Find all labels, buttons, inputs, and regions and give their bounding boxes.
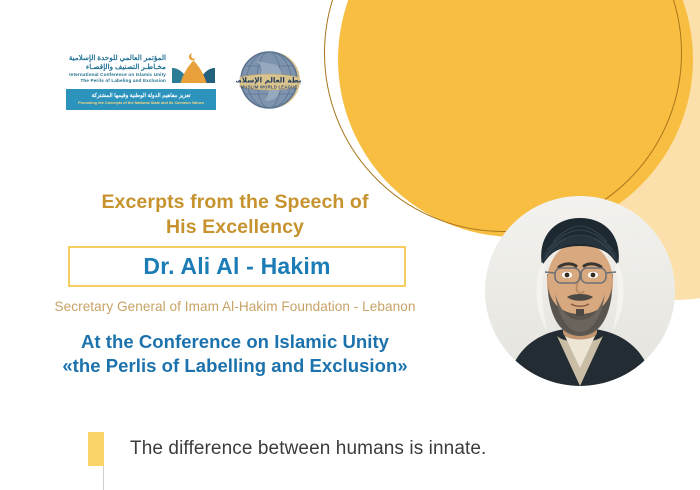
portrait-of-dr-ali-al-hakim	[485, 196, 675, 386]
conference-banner-arabic: تعزيز مفاهيم الدولة الوطنية وقيمها المشت…	[70, 93, 212, 100]
globe-emblem-icon: رابطة العالم الإسلامي MUSLIM WORLD LEAGU…	[236, 47, 302, 113]
mwl-arabic-name: رابطة العالم الإسلامي	[236, 75, 302, 84]
conference-line2: «the Perlis of Labelling and Exclusion»	[0, 354, 470, 378]
conference-title: At the Conference on Islamic Unity «the …	[0, 330, 470, 379]
page-title: Excerpts from the Speech of His Excellen…	[0, 190, 470, 240]
speaker-role: Secretary General of Imam Al-Hakim Found…	[0, 299, 470, 314]
conference-logo-text: المؤتمر العالمي للوحدة الإسلامية مخـاطـر…	[66, 54, 166, 84]
mwl-english-name: MUSLIM WORLD LEAGUE	[241, 85, 298, 90]
conference-english-line2: The Perils of Labeling and Exclusion	[66, 78, 166, 83]
headline-line2: His Excellency	[0, 215, 470, 240]
quote-text: The difference between humans is innate.	[130, 438, 486, 460]
conference-english-line1: International Conference on Islamic Unit…	[66, 72, 166, 77]
conference-line1: At the Conference on Islamic Unity	[0, 330, 470, 354]
quote-block: The difference between humans is innate.	[88, 432, 486, 466]
mosque-dome-crescent-icon	[172, 50, 216, 84]
speaker-name-box: Dr. Ali Al - Hakim	[68, 246, 406, 287]
poster-canvas: المؤتمر العالمي للوحدة الإسلامية مخـاطـر…	[0, 0, 700, 490]
headline-line1: Excerpts from the Speech of	[0, 190, 470, 215]
conference-logo-top: المؤتمر العالمي للوحدة الإسلامية مخـاطـر…	[66, 50, 216, 84]
conference-banner: تعزيز مفاهيم الدولة الوطنية وقيمها المشت…	[66, 89, 216, 110]
quote-accent-mark	[88, 432, 104, 466]
speaker-name: Dr. Ali Al - Hakim	[143, 253, 330, 280]
conference-logo: المؤتمر العالمي للوحدة الإسلامية مخـاطـر…	[66, 50, 216, 110]
conference-arabic-line2: مخـاطـر التصنيف والإقصـاء	[66, 63, 166, 71]
logo-row: المؤتمر العالمي للوحدة الإسلامية مخـاطـر…	[66, 47, 302, 113]
conference-banner-english: Promoting the Concepts of the National S…	[70, 101, 212, 106]
muslim-world-league-logo: رابطة العالم الإسلامي MUSLIM WORLD LEAGU…	[236, 47, 302, 113]
